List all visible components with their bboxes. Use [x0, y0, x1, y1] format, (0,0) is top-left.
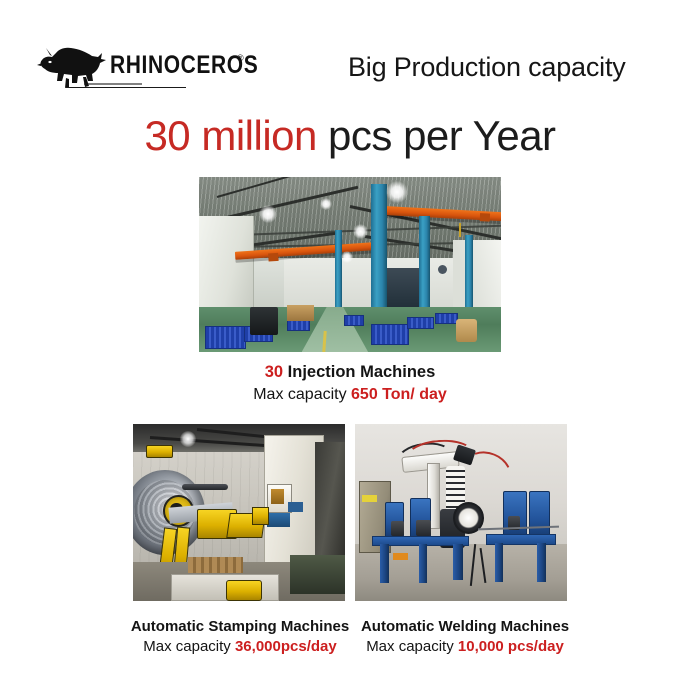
welding-cell-photo: [355, 424, 567, 601]
control-panel-keypad: [267, 513, 290, 527]
yellow-guard: [146, 445, 173, 458]
yellow-bin: [226, 580, 262, 601]
crane-hoist: [480, 213, 490, 222]
wooden-blocks: [188, 557, 243, 573]
caption-line-2: Max capacity 10,000 pcs/day: [325, 637, 605, 657]
machine-base: [171, 574, 279, 601]
headline-rest: pcs per Year: [317, 112, 556, 159]
caption-label: Injection Machines: [283, 363, 435, 381]
fixture-motor: [391, 521, 404, 535]
brand-logo: RHINOCEROS ®: [36, 42, 251, 94]
factory-hall-photo: [199, 177, 501, 352]
blue-crate: [205, 326, 246, 349]
page-title: Big Production capacity: [348, 52, 626, 83]
crane-hoist: [269, 252, 280, 261]
caption-capacity: 10,000 pcs/day: [458, 638, 564, 655]
logo-underline-secondary: [84, 83, 142, 85]
caption-injection-machines: 30 Injection Machines Max capacity 650 T…: [0, 362, 700, 405]
ceiling-lamp: [180, 431, 196, 447]
caption-count: 30: [265, 363, 283, 381]
material-sack: [456, 319, 477, 342]
table-leg: [380, 544, 388, 583]
table-leg: [537, 543, 545, 582]
table-leg: [419, 544, 427, 583]
caption-line-1: 30 Injection Machines: [0, 362, 700, 384]
caption-line-2: Max capacity 650 Ton/ day: [0, 384, 700, 405]
caption-prefix: Max capacity: [143, 638, 235, 655]
control-panel-screen: [271, 489, 284, 503]
blue-crate: [371, 324, 409, 345]
orange-control-box: [393, 553, 408, 560]
crane-hook: [459, 223, 461, 237]
blue-crate: [344, 315, 364, 326]
welding-fixture: [529, 491, 550, 539]
auxiliary-equipment: [290, 555, 345, 594]
headline-accent: 30 million: [144, 112, 316, 159]
ceiling-lamp: [386, 181, 408, 203]
ceiling-lamp: [341, 251, 353, 263]
blue-crate: [435, 313, 458, 324]
registered-trademark-icon: ®: [237, 53, 244, 63]
cabinet-warning-label: [362, 495, 377, 502]
stamping-machine-photo: [133, 424, 345, 601]
decoiler-shaft: [182, 484, 229, 490]
injection-machine-right: [453, 240, 501, 310]
table-leg: [495, 543, 503, 582]
press-rear-unit: [315, 442, 345, 566]
table-leg: [453, 544, 464, 579]
injection-machine-left: [199, 216, 254, 314]
fixture-motor: [416, 520, 431, 536]
caption-capacity: 36,000pcs/day: [235, 638, 337, 655]
caption-welding-machines: Automatic Welding Machines Max capacity …: [325, 617, 605, 657]
material-cart: [250, 307, 277, 335]
blue-crate: [407, 317, 433, 330]
wooden-pallet: [287, 305, 314, 321]
logo-underline: [66, 87, 186, 88]
button-box: [288, 502, 303, 513]
header: RHINOCEROS ® Big Production capacity: [0, 38, 700, 96]
feeder-roller-guard: [252, 507, 269, 525]
wall-fan-icon: [438, 265, 447, 274]
caption-line-1: Automatic Welding Machines: [325, 617, 605, 637]
caption-prefix: Max capacity: [253, 386, 351, 403]
ceiling-lamp: [320, 198, 332, 210]
caption-prefix: Max capacity: [366, 638, 458, 655]
headline: 30 million pcs per Year: [0, 112, 700, 160]
caption-capacity: 650 Ton/ day: [351, 386, 447, 403]
promo-banner: RHINOCEROS ® Big Production capacity 30 …: [0, 0, 700, 700]
